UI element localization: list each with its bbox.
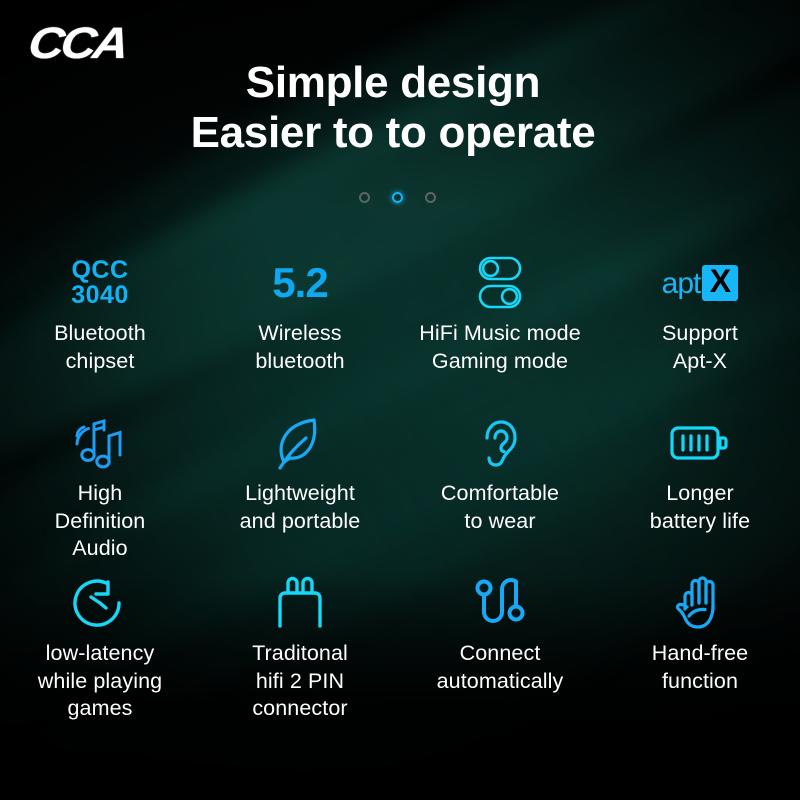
aptx-x-badge: X xyxy=(702,265,738,301)
caption-line: while playing xyxy=(38,668,162,696)
caption-line: function xyxy=(652,668,749,696)
qcc-line-1: QCC xyxy=(71,258,129,284)
leaf-icon xyxy=(272,412,328,474)
caption-line: Apt-X xyxy=(662,348,738,376)
bluetooth-version-text-icon: 5.2 xyxy=(272,252,327,314)
feature-grid: QCC 3040 Bluetooth chipset 5.2 Wireless xyxy=(0,252,800,742)
caption-line: games xyxy=(38,695,162,723)
caption-line: connector xyxy=(252,695,348,723)
carousel-dot-1[interactable] xyxy=(359,192,370,203)
carousel-dot-3[interactable] xyxy=(425,192,436,203)
caption-line: to wear xyxy=(441,508,559,536)
caption-line: Longer xyxy=(650,480,750,508)
stopwatch-icon xyxy=(73,572,127,634)
caption-line: Bluetooth xyxy=(54,320,146,348)
feature-item-sound-modes: HiFi Music mode Gaming mode xyxy=(400,252,600,412)
caption-line: battery life xyxy=(650,508,750,536)
feature-item-auto-connect: Connect automatically xyxy=(400,572,600,742)
feature-item-high-definition-audio: High Definition Audio xyxy=(0,412,200,572)
caption-line: Connect xyxy=(437,640,564,668)
caption-line: and portable xyxy=(240,508,361,536)
two-pin-connector-icon xyxy=(271,572,329,634)
feature-item-bluetooth-chipset: QCC 3040 Bluetooth chipset xyxy=(0,252,200,412)
battery-icon xyxy=(669,412,731,474)
caption-line: Traditonal xyxy=(252,640,348,668)
music-notes-wifi-icon xyxy=(71,412,129,474)
headline-line-1: Simple design xyxy=(0,58,786,108)
caption-line: chipset xyxy=(54,348,146,376)
caption-line: Definition xyxy=(55,508,146,536)
feature-item-lightweight-portable: Lightweight and portable xyxy=(200,412,400,572)
feature-item-battery-life: Longer battery life xyxy=(600,412,800,572)
page-title: Simple design Easier to to operate xyxy=(0,58,800,158)
caption-line: Gaming mode xyxy=(419,348,581,376)
carousel-dots[interactable] xyxy=(0,192,800,203)
product-feature-banner: CCA Simple design Easier to to operate Q… xyxy=(0,0,800,800)
caption-line: automatically xyxy=(437,668,564,696)
carousel-dot-2[interactable] xyxy=(392,192,403,203)
auto-connect-nodes-icon xyxy=(473,572,527,634)
ear-icon xyxy=(476,412,524,474)
qcc-line-2: 3040 xyxy=(71,283,129,309)
caption-line: low-latency xyxy=(38,640,162,668)
caption-line: Lightweight xyxy=(240,480,361,508)
feature-item-comfortable-wear: Comfortable to wear xyxy=(400,412,600,572)
aptx-word: apt xyxy=(662,269,701,299)
headline-line-2: Easier to to operate xyxy=(0,108,786,158)
caption-line: Support xyxy=(662,320,738,348)
feature-item-low-latency: low-latency while playing games xyxy=(0,572,200,742)
aptx-logo-icon: apt X xyxy=(662,252,739,314)
toggle-switches-icon xyxy=(473,252,527,314)
feature-item-two-pin-connector: Traditonal hifi 2 PIN connector xyxy=(200,572,400,742)
caption-line: hifi 2 PIN xyxy=(252,668,348,696)
aptx-x-letter: X xyxy=(710,265,731,297)
caption-line: Wireless xyxy=(255,320,344,348)
caption-line: bluetooth xyxy=(255,348,344,376)
feature-item-hands-free: Hand-free function xyxy=(600,572,800,742)
qcc-3040-text-icon: QCC 3040 xyxy=(71,252,129,314)
feature-item-aptx-support: apt X Support Apt-X xyxy=(600,252,800,412)
caption-line: Comfortable xyxy=(441,480,559,508)
caption-line: Audio xyxy=(55,535,146,563)
caption-line: Hand-free xyxy=(652,640,749,668)
bluetooth-version-value: 5.2 xyxy=(272,262,327,304)
hand-icon xyxy=(673,572,727,634)
feature-item-wireless-bluetooth: 5.2 Wireless bluetooth xyxy=(200,252,400,412)
caption-line: High xyxy=(55,480,146,508)
caption-line: HiFi Music mode xyxy=(419,320,581,348)
